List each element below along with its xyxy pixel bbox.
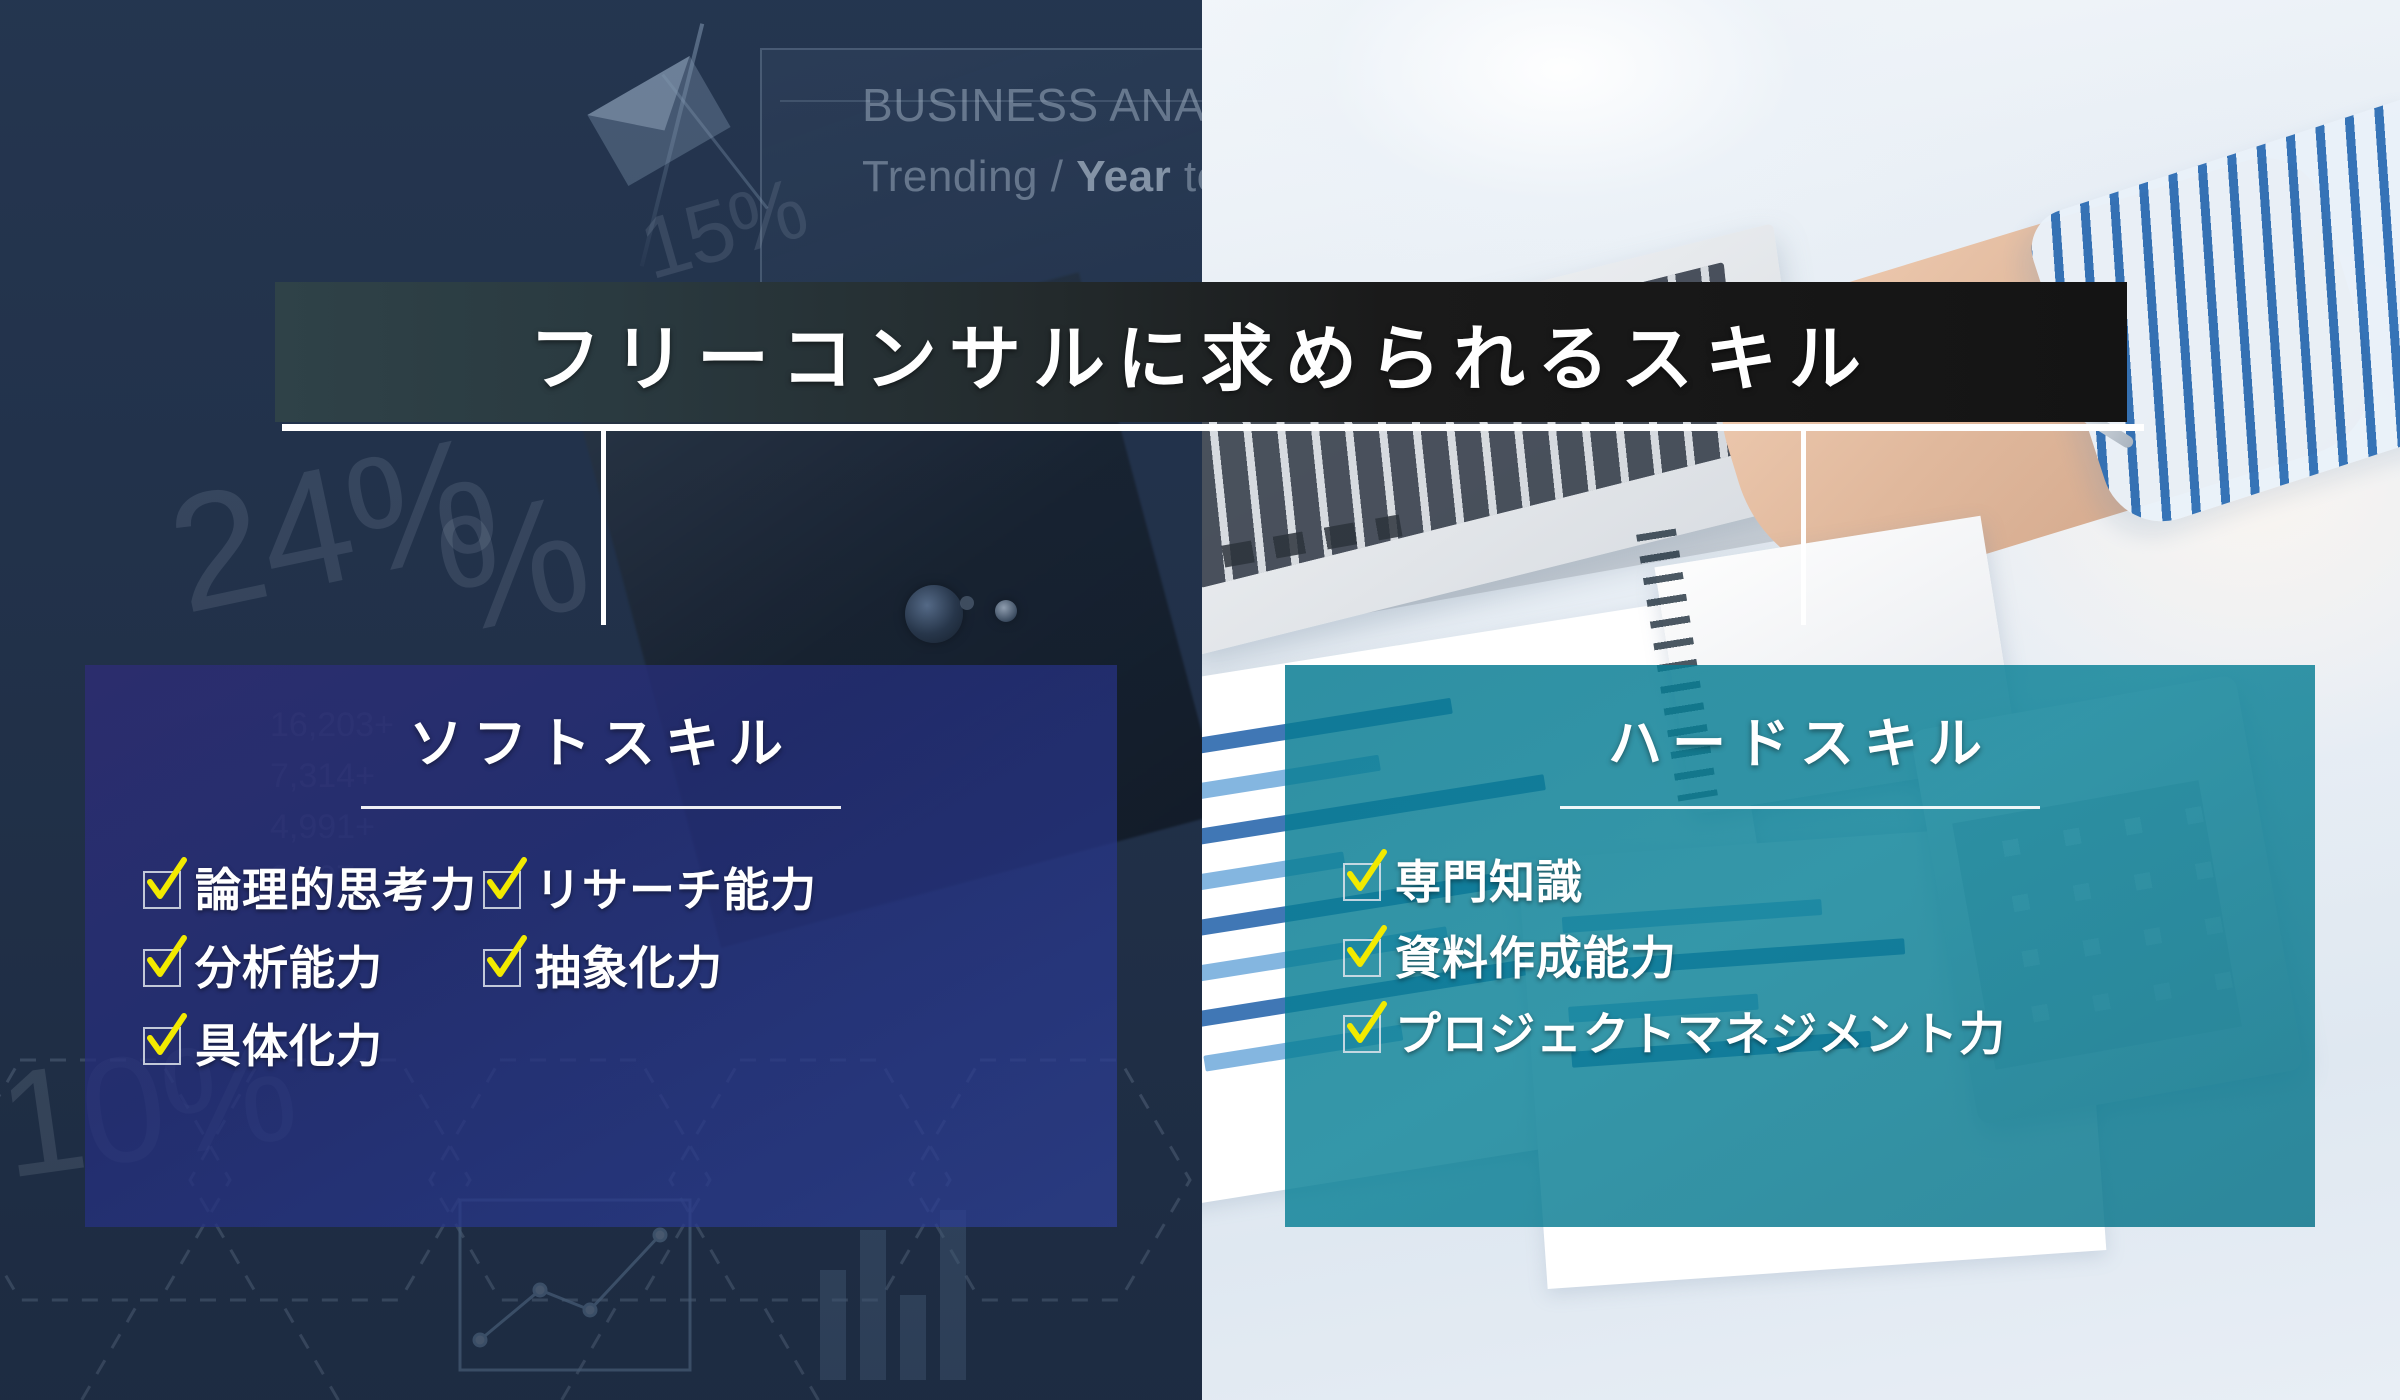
list-item-label: 論理的思考力	[195, 867, 477, 913]
checkbox-checked-icon[interactable]	[143, 1027, 181, 1065]
list-item[interactable]: 分析能力	[143, 945, 483, 991]
list-item[interactable]: 抽象化力	[483, 945, 1117, 991]
list-item-label: プロジェクトマネジメント力	[1395, 1011, 2006, 1057]
connector-line-right	[1801, 429, 1806, 625]
checkbox-checked-icon[interactable]	[483, 871, 521, 909]
connector-line-left	[601, 429, 606, 625]
title-underline	[282, 424, 2144, 431]
soft-skills-divider	[361, 806, 841, 809]
list-item[interactable]: プロジェクトマネジメント力	[1343, 1011, 2315, 1057]
list-item[interactable]: 資料作成能力	[1343, 935, 2315, 981]
hard-skills-divider	[1560, 806, 2040, 809]
list-item-label: 専門知識	[1395, 859, 1583, 905]
checkbox-checked-icon[interactable]	[483, 949, 521, 987]
hard-skills-panel: ハードスキル 専門知識 資料作成能力 プロジェクトマネジメント力	[1285, 665, 2315, 1227]
page-title: フリーコンサルに求められるスキル	[275, 282, 2127, 422]
hard-skills-heading: ハードスキル	[1285, 699, 2315, 778]
list-item-label: 資料作成能力	[1395, 935, 1677, 981]
list-item[interactable]: 論理的思考力	[143, 867, 483, 913]
infographic-canvas: BUSINESS ANA Trending / Year to 15% 24% …	[0, 0, 2400, 1400]
checkbox-checked-icon[interactable]	[143, 871, 181, 909]
list-item-label: リサーチ能力	[535, 867, 817, 913]
soft-skills-list: 論理的思考力 リサーチ能力 分析能力	[85, 867, 1117, 1069]
list-item[interactable]: 専門知識	[1343, 859, 2315, 905]
checkbox-checked-icon[interactable]	[143, 949, 181, 987]
checkbox-checked-icon[interactable]	[1343, 939, 1381, 977]
checkbox-checked-icon[interactable]	[1343, 1015, 1381, 1053]
checkbox-checked-icon[interactable]	[1343, 863, 1381, 901]
list-item-label: 分析能力	[195, 945, 383, 991]
title-banner: フリーコンサルに求められるスキル	[275, 282, 2127, 422]
list-item-label: 抽象化力	[535, 945, 723, 991]
soft-skills-panel: ソフトスキル 論理的思考力 リサーチ能力	[85, 665, 1117, 1227]
hard-skills-list: 専門知識 資料作成能力 プロジェクトマネジメント力	[1285, 859, 2315, 1057]
list-item[interactable]: 具体化力	[143, 1023, 483, 1069]
list-item-label: 具体化力	[195, 1023, 383, 1069]
soft-skills-heading: ソフトスキル	[85, 699, 1117, 778]
list-item[interactable]: リサーチ能力	[483, 867, 1117, 913]
